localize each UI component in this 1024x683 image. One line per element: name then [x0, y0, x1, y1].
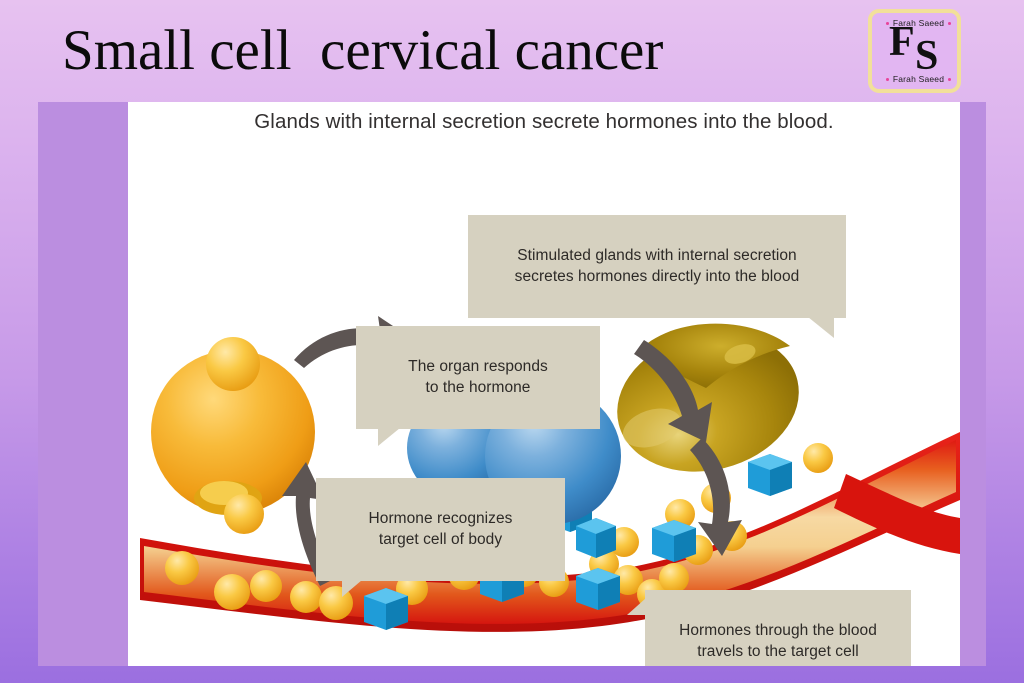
- callout-stimulated-glands-text: Stimulated glands with internal secretio…: [515, 247, 800, 285]
- logo-dot-left-lower-icon: [886, 78, 889, 81]
- diagram-content-panel: Glands with internal secretion secrete h…: [128, 102, 960, 666]
- callout-organ-responds-tail: [378, 428, 400, 446]
- logo-monogram-s: S: [915, 41, 938, 71]
- callout-stimulated-glands-tail: [808, 317, 834, 338]
- page-title: Small cell cervical cancer: [62, 18, 663, 84]
- logo-bottom-text-row: Farah Saeed: [872, 74, 961, 84]
- callout-hormones-travel-tail: [627, 598, 646, 615]
- callout-hormone-recognizes: Hormone recognizes target cell of body: [316, 478, 565, 581]
- callout-hormones-travel: Hormones through the blood travels to th…: [645, 590, 911, 666]
- logo-dot-right-lower-icon: [948, 78, 951, 81]
- callout-hormone-recognizes-text: Hormone recognizes target cell of body: [369, 510, 513, 548]
- target-organ-sphere: [151, 337, 315, 534]
- callout-stimulated-glands: Stimulated glands with internal secretio…: [468, 215, 846, 318]
- farah-saeed-watermark-logo: Farah Saeed F S Farah Saeed: [868, 9, 961, 93]
- callout-hormones-travel-text: Hormones through the blood travels to th…: [679, 622, 877, 660]
- logo-bottom-text: Farah Saeed: [893, 74, 944, 84]
- logo-monogram-f: F: [889, 27, 915, 57]
- logo-dot-right-icon: [948, 22, 951, 25]
- callout-organ-responds-text: The organ responds to the hormone: [408, 358, 548, 396]
- callout-hormone-recognizes-tail: [342, 580, 362, 597]
- slide-title-bar: Small cell cervical cancer Farah Saeed F…: [0, 0, 1024, 102]
- callout-organ-responds: The organ responds to the hormone: [356, 326, 600, 429]
